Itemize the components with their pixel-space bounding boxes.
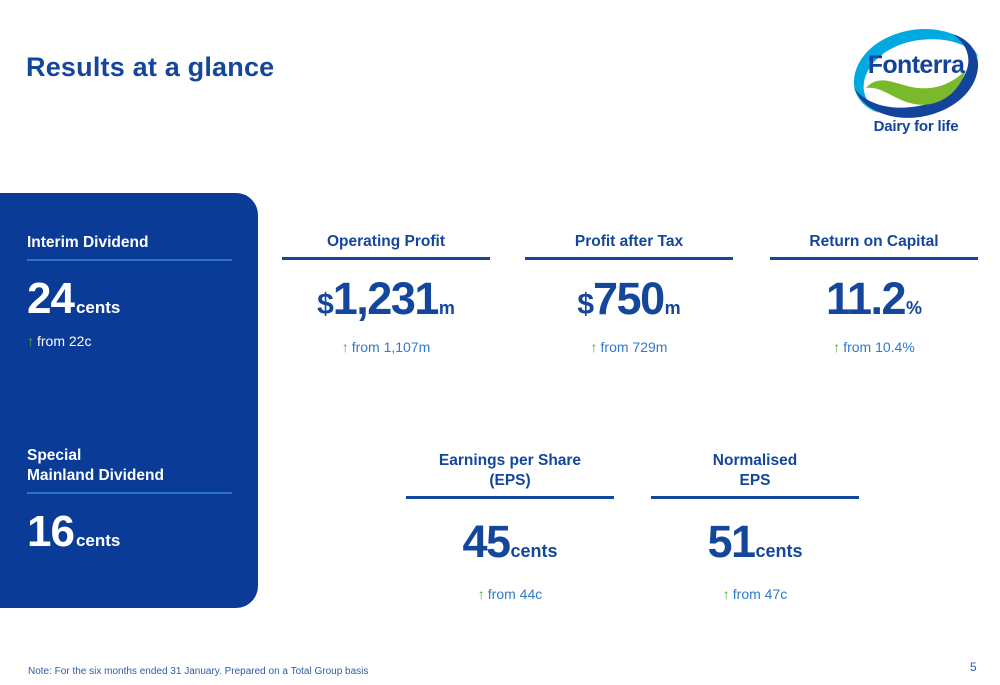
card-delta: ↑from 729m: [525, 339, 733, 355]
footnote: Note: For the six months ended 31 Januar…: [28, 666, 368, 677]
card-value-number: 11.2: [826, 273, 905, 324]
card-delta-text: from 47c: [733, 586, 787, 602]
panel-delta-text: from 22c: [37, 333, 91, 349]
card-heading: Profit after Tax: [525, 232, 733, 257]
panel-value-unit: cents: [76, 298, 120, 317]
metric-card-return-on-capital: Return on Capital 11.2% ↑from 10.4%: [770, 232, 978, 355]
card-delta: ↑from 44c: [406, 586, 614, 602]
card-delta-text: from 44c: [488, 586, 542, 602]
card-value: 45cents: [406, 519, 614, 564]
up-arrow-icon: ↑: [27, 333, 34, 349]
metric-card-earnings-per-share: Earnings per Share (EPS) 45cents ↑from 4…: [406, 451, 614, 602]
panel-heading-interim-dividend: Interim Dividend: [27, 233, 232, 259]
panel-block-special-mainland-dividend: Special Mainland Dividend 16cents: [27, 446, 232, 554]
page-number: 5: [970, 660, 977, 674]
page-title: Results at a glance: [26, 52, 274, 83]
card-value-currency: $: [577, 288, 593, 321]
card-value-unit: cents: [756, 541, 803, 561]
up-arrow-icon: ↑: [342, 339, 349, 355]
metric-card-operating-profit: Operating Profit $1,231m ↑from 1,107m: [282, 232, 490, 355]
card-value-number: 51: [707, 516, 754, 567]
logo-trademark-icon: ®: [971, 54, 977, 62]
logo-tagline: Dairy for life: [846, 118, 986, 135]
up-arrow-icon: ↑: [591, 339, 598, 355]
panel-value-unit: cents: [76, 531, 120, 550]
metric-card-normalised-eps: Normalised EPS 51cents ↑from 47c: [651, 451, 859, 602]
up-arrow-icon: ↑: [723, 586, 730, 602]
card-value: 11.2%: [770, 276, 978, 321]
card-heading: Return on Capital: [770, 232, 978, 257]
card-value-unit: m: [665, 298, 681, 318]
panel-divider: [27, 492, 232, 494]
card-value-currency: $: [317, 288, 333, 321]
slide-canvas: Results at a glance Fonterra ® Dairy for…: [0, 0, 1000, 685]
card-divider: [525, 257, 733, 260]
logo-wordmark: Fonterra: [868, 51, 966, 79]
up-arrow-icon: ↑: [833, 339, 840, 355]
card-value-number: 750: [593, 273, 664, 324]
card-divider: [651, 496, 859, 499]
fonterra-logo: Fonterra ® Dairy for life: [846, 28, 986, 148]
panel-heading-line1: Special: [27, 446, 232, 466]
panel-heading-line2: Mainland Dividend: [27, 466, 232, 486]
card-delta: ↑from 1,107m: [282, 339, 490, 355]
panel-heading-special-mainland-dividend: Special Mainland Dividend: [27, 446, 232, 492]
card-value-unit: m: [439, 298, 455, 318]
card-delta-text: from 10.4%: [843, 339, 915, 355]
card-delta-text: from 729m: [601, 339, 668, 355]
panel-value-interim-dividend: 24cents: [27, 270, 232, 321]
card-divider: [282, 257, 490, 260]
card-value: 51cents: [651, 519, 859, 564]
card-value-unit: cents: [511, 541, 558, 561]
card-value: $1,231m: [282, 276, 490, 321]
card-heading-line2: (EPS): [406, 471, 614, 491]
logo-mark-icon: Fonterra ®: [846, 28, 986, 120]
card-divider: [770, 257, 978, 260]
metric-card-profit-after-tax: Profit after Tax $750m ↑from 729m: [525, 232, 733, 355]
card-value-unit: %: [906, 298, 922, 318]
card-heading: Normalised EPS: [651, 451, 859, 496]
card-delta: ↑from 47c: [651, 586, 859, 602]
card-divider: [406, 496, 614, 499]
panel-delta-interim-dividend: ↑from 22c: [27, 333, 232, 349]
card-delta-text: from 1,107m: [352, 339, 431, 355]
card-value-number: 45: [462, 516, 509, 567]
up-arrow-icon: ↑: [478, 586, 485, 602]
dividend-panel: Interim Dividend 24cents ↑from 22c Speci…: [0, 193, 258, 608]
card-heading: Operating Profit: [282, 232, 490, 257]
panel-value-special-mainland-dividend: 16cents: [27, 503, 232, 554]
card-value-number: 1,231: [333, 273, 438, 324]
card-heading-line1: Normalised: [651, 451, 859, 471]
card-delta: ↑from 10.4%: [770, 339, 978, 355]
panel-value-number: 16: [27, 507, 74, 556]
card-heading-line2: EPS: [651, 471, 859, 491]
card-heading-line1: Earnings per Share: [406, 451, 614, 471]
panel-value-number: 24: [27, 274, 74, 323]
card-value: $750m: [525, 276, 733, 321]
panel-block-interim-dividend: Interim Dividend 24cents ↑from 22c: [27, 233, 232, 349]
panel-divider: [27, 259, 232, 261]
card-heading: Earnings per Share (EPS): [406, 451, 614, 496]
